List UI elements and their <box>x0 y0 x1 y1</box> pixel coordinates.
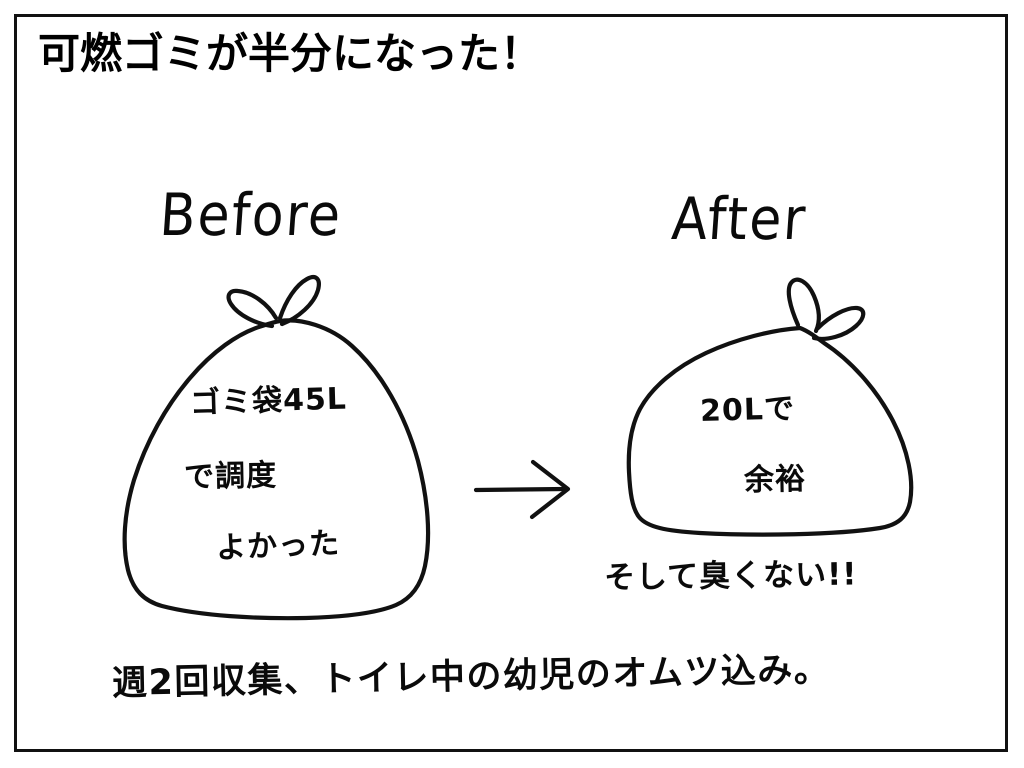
page-title: 可燃ゴミが半分になった！ <box>38 28 542 80</box>
before-label: Before <box>158 182 345 249</box>
before-bag-line-1: ゴミ袋45L <box>189 374 347 422</box>
after-bag-line-2: 余裕 <box>744 454 807 499</box>
after-note: そして臭くない!! <box>604 548 858 597</box>
after-bag-line-1: 20Lで <box>699 383 795 430</box>
slide-canvas: 可燃ゴミが半分になった！ <box>0 0 1024 768</box>
after-label: After <box>670 186 810 253</box>
before-bag-line-2: で調度 <box>184 450 278 496</box>
slide-frame <box>14 14 1008 752</box>
before-bag-line-3: よかった <box>215 518 341 567</box>
